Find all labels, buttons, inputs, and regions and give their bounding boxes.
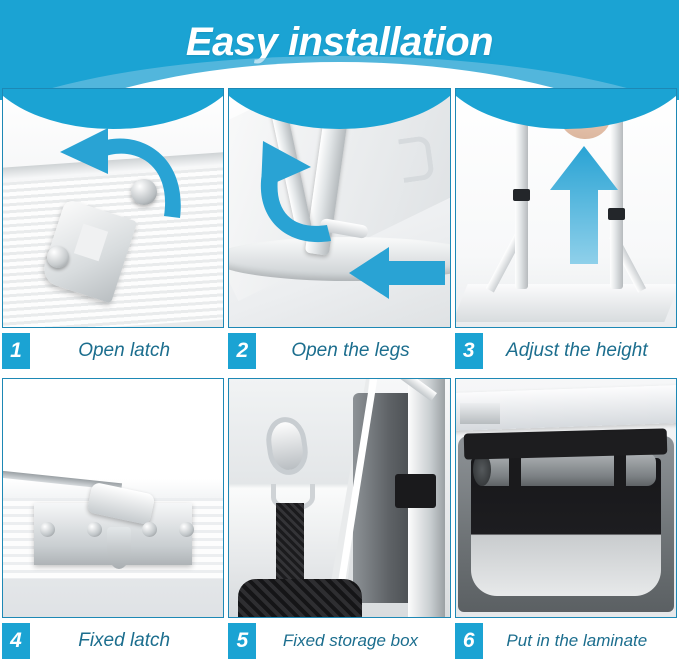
step-cell-5: 5 Fixed storage box [228, 378, 450, 664]
step-cell-4: 4 Fixed latch [2, 378, 224, 664]
curved-arrow-left-icon [38, 122, 198, 242]
velcro-band [395, 474, 437, 507]
straight-arrow-left-icon [349, 243, 445, 303]
step-1-caption-text: Open latch [30, 340, 224, 362]
step-1-caption: 1 Open latch [2, 328, 224, 374]
step-2-photo [228, 88, 450, 328]
step-4-caption-text: Fixed latch [30, 630, 224, 652]
mounting-bracket [460, 403, 500, 424]
step-6-caption: 6 Put in the laminate [455, 618, 677, 664]
step-cell-2: 2 Open the legs [228, 88, 450, 374]
step-6-badge: 6 [455, 623, 483, 659]
step-3-badge: 3 [455, 333, 483, 369]
step-5-badge: 5 [228, 623, 256, 659]
step-2-badge: 2 [228, 333, 256, 369]
step-5-caption: 5 Fixed storage box [228, 618, 450, 664]
step-4-caption: 4 Fixed latch [2, 618, 224, 664]
step-cell-3: 3 Adjust the height [455, 88, 677, 374]
header-banner: Easy installation [0, 0, 679, 100]
steps-grid: 1 Open latch [0, 88, 679, 664]
step-4-badge: 4 [2, 623, 30, 659]
leg-clamp-left [513, 189, 530, 201]
latch-pivot-ball [47, 246, 69, 268]
step-1-badge: 1 [2, 333, 30, 369]
step-5-caption-text: Fixed storage box [256, 631, 450, 651]
step-3-caption: 3 Adjust the height [455, 328, 677, 374]
black-strap [276, 503, 304, 589]
step-6-photo [455, 378, 677, 618]
plate-rivet [142, 522, 157, 537]
step-5-photo [228, 378, 450, 618]
easy-installation-infographic: Easy installation 1 [0, 0, 679, 664]
step-cell-6: 6 Put in the laminate [455, 378, 677, 664]
step-2-caption-text: Open the legs [256, 340, 450, 362]
step-3-photo [455, 88, 677, 328]
plate-rivet [87, 522, 102, 537]
up-arrow-icon [548, 146, 620, 266]
mesh-pocket [238, 579, 361, 617]
plate-rivet [179, 522, 194, 537]
step-4-photo [2, 378, 224, 618]
step-3-caption-text: Adjust the height [483, 340, 677, 362]
step-cell-1: 1 Open latch [2, 88, 224, 374]
latch-hinge [107, 527, 131, 570]
step-2-caption: 2 Open the legs [228, 328, 450, 374]
step-1-photo [2, 88, 224, 328]
step-6-caption-text: Put in the laminate [483, 631, 677, 651]
table-base-panel [455, 284, 677, 322]
